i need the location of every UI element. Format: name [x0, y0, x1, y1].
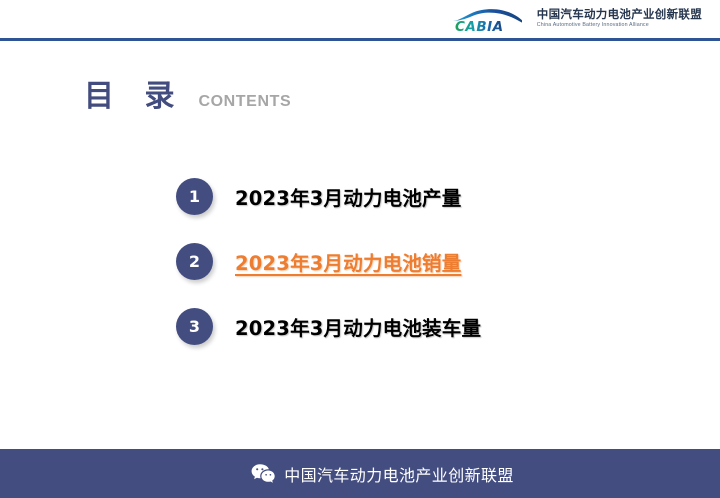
wechat-icon [251, 463, 275, 484]
page-header: CABIA 中国汽车动力电池产业创新联盟 China Automotive Ba… [0, 0, 720, 41]
contents-item-1[interactable]: 1 2023年3月动力电池产量 [176, 164, 646, 229]
page-footer: 中国汽车动力电池产业创新联盟 [0, 449, 720, 498]
page-title-cn: 目 录 [84, 82, 184, 112]
contents-badge-1: 1 [176, 178, 213, 215]
contents-label-1[interactable]: 2023年3月动力电池产量 [235, 182, 461, 211]
cabia-car-logo-icon: CABIA [445, 4, 529, 34]
brand-lockup: CABIA 中国汽车动力电池产业创新联盟 China Automotive Ba… [445, 4, 702, 34]
brand-text-block: 中国汽车动力电池产业创新联盟 China Automotive Battery … [537, 9, 702, 29]
org-name-cn: 中国汽车动力电池产业创新联盟 [537, 9, 702, 21]
svg-text:CABIA: CABIA [455, 19, 504, 34]
header-divider [0, 38, 720, 41]
contents-item-2[interactable]: 2 2023年3月动力电池销量 [176, 229, 646, 294]
contents-item-3[interactable]: 3 2023年3月动力电池装车量 [176, 294, 646, 359]
page-title: 目 录 CONTENTS [84, 82, 291, 112]
contents-badge-3: 3 [176, 308, 213, 345]
footer-label: 中国汽车动力电池产业创新联盟 [284, 462, 514, 486]
page-title-en: CONTENTS [198, 94, 291, 110]
contents-badge-2: 2 [176, 243, 213, 280]
org-name-en: China Automotive Battery Innovation Alli… [537, 23, 702, 29]
footer-content: 中国汽车动力电池产业创新联盟 [251, 462, 514, 486]
contents-label-2[interactable]: 2023年3月动力电池销量 [235, 247, 461, 276]
contents-label-3[interactable]: 2023年3月动力电池装车量 [235, 312, 481, 341]
contents-list: 1 2023年3月动力电池产量 2 2023年3月动力电池销量 3 2023年3… [176, 164, 646, 359]
